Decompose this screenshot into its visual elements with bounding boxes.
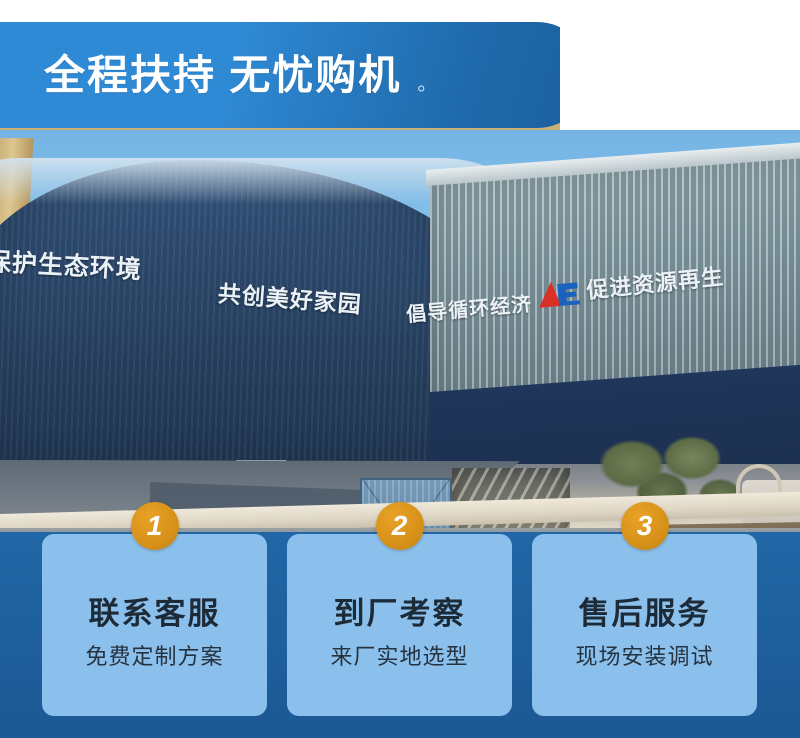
step-card-after-sales[interactable]: 3 售后服务 现场安装调试 <box>532 534 757 716</box>
step-subtitle-3: 现场安装调试 <box>575 645 713 669</box>
step-card-factory-visit[interactable]: 2 到厂考察 来厂实地选型 <box>287 534 512 716</box>
header-white-gap <box>560 0 800 130</box>
banner-body: 全程扶持 无忧购机 。 <box>0 22 590 128</box>
step-title-2: 到厂考察 <box>334 597 466 631</box>
header-banner: 全程扶持 无忧购机 。 <box>0 22 598 134</box>
factory-photo: 保护生态环境 共创美好家园 倡导循环经济 促进资源再生 <box>0 130 800 534</box>
wall-slogan-protect-ecology: 保护生态环境 <box>0 242 143 287</box>
step-card-contact-service[interactable]: 1 联系客服 免费定制方案 <box>42 534 267 716</box>
step-title-1: 联系客服 <box>89 597 221 631</box>
promo-page: 全程扶持 无忧购机 。 保护生态环境 共创美好家园 倡导循环 <box>0 0 800 738</box>
step-subtitle-2: 来厂实地选型 <box>330 645 468 669</box>
step-title-3: 售后服务 <box>579 597 711 631</box>
step-badge-2: 2 <box>376 502 424 550</box>
page-title: 全程扶持 无忧购机 <box>44 55 401 96</box>
step-badge-3: 3 <box>621 502 669 550</box>
title-trailing-mark: 。 <box>417 67 437 96</box>
steps-panel: 1 联系客服 免费定制方案 2 到厂考察 来厂实地选型 3 售后服务 现场安装调… <box>0 532 800 738</box>
step-subtitle-1: 免费定制方案 <box>85 645 223 669</box>
step-badge-1: 1 <box>131 502 179 550</box>
company-logo-icon <box>535 276 583 310</box>
steps-card-list: 1 联系客服 免费定制方案 2 到厂考察 来厂实地选型 3 售后服务 现场安装调… <box>0 532 800 738</box>
